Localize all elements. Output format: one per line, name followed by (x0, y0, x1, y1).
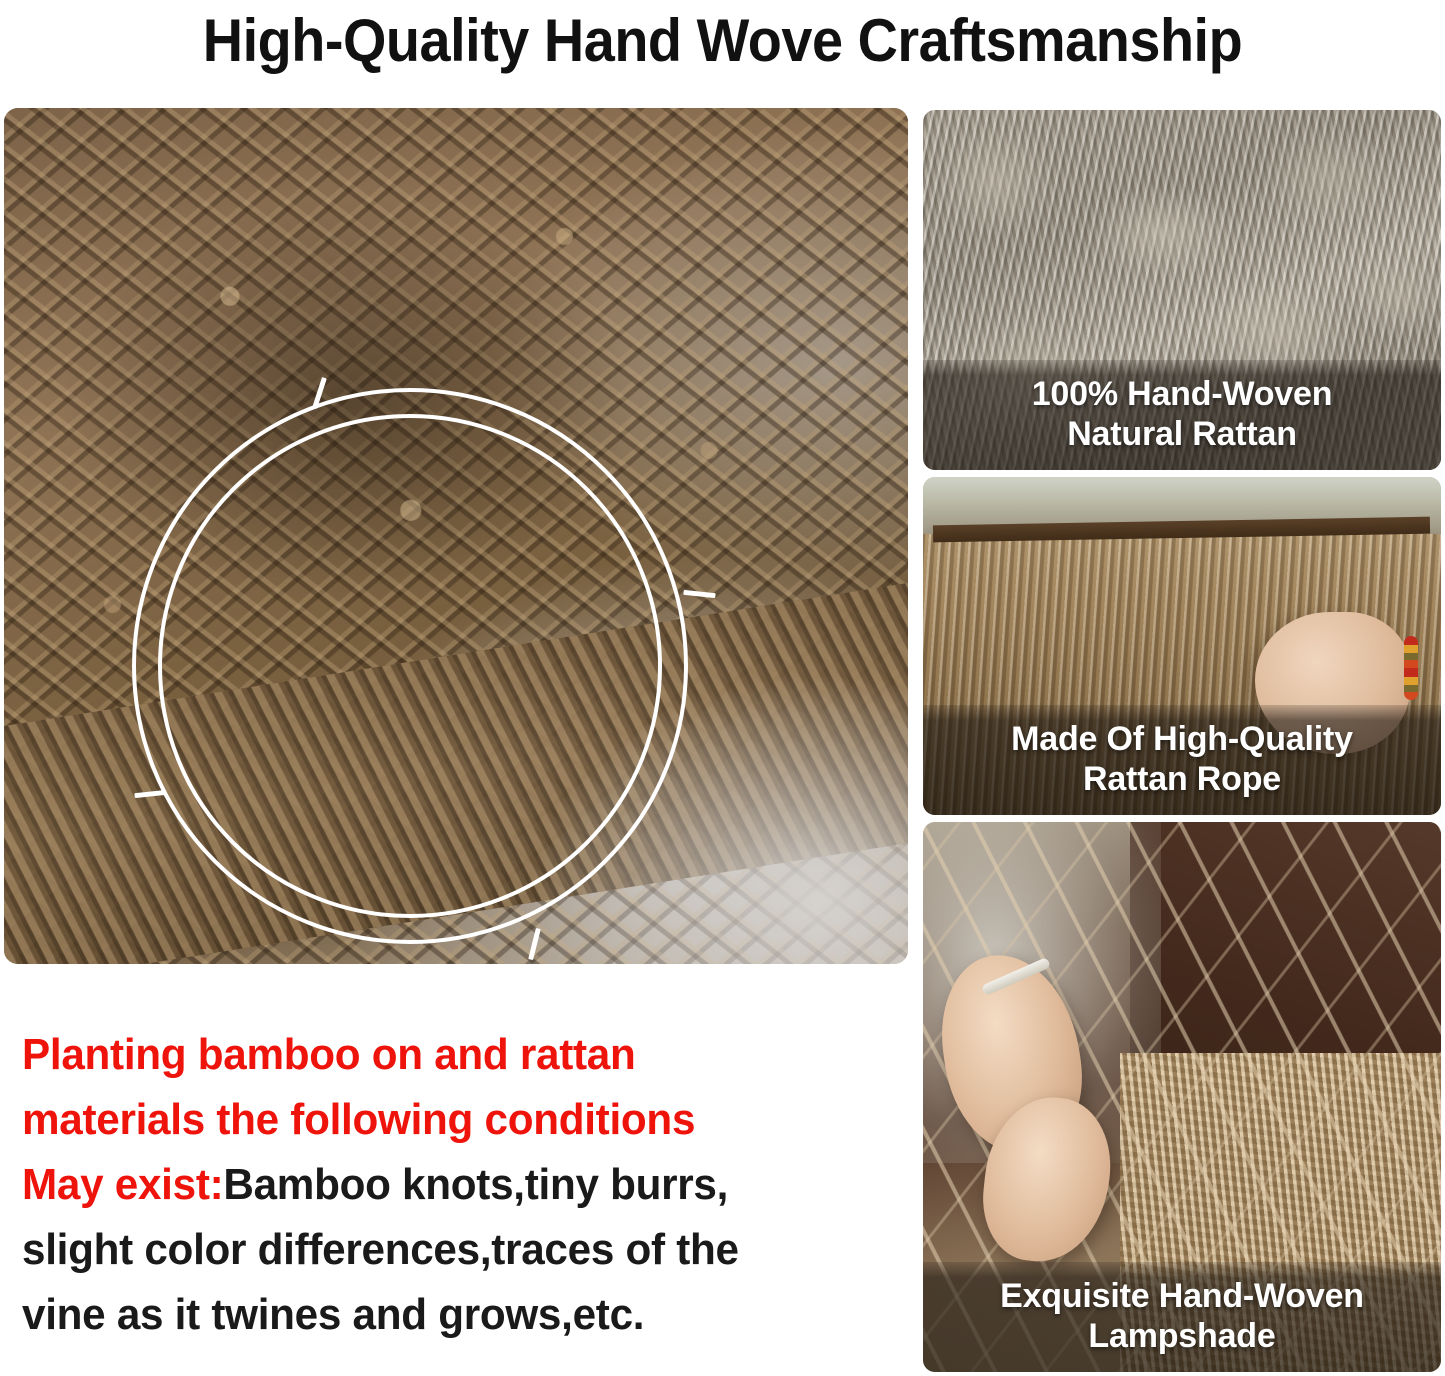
material-disclaimer: Planting bamboo on and rattan materials … (22, 1022, 900, 1347)
caption-line-1: 100% Hand-Woven (939, 374, 1425, 414)
infographic-page: High-Quality Hand Wove Craftsmanship 100… (0, 0, 1445, 1376)
caption-line-1: Made Of High-Quality (939, 719, 1425, 759)
hero-highlight (528, 673, 908, 964)
panel-caption: 100% Hand-Woven Natural Rattan (923, 360, 1441, 470)
feature-panel-natural-rattan: 100% Hand-Woven Natural Rattan (923, 110, 1441, 470)
page-title: High-Quality Hand Wove Craftsmanship (51, 0, 1395, 96)
panel-caption: Made Of High-Quality Rattan Rope (923, 705, 1441, 815)
caption-line-1: Exquisite Hand-Woven (939, 1276, 1425, 1316)
hero-product-image (4, 108, 908, 964)
disclaimer-line-5: vine as it twines and grows,etc. (22, 1282, 865, 1347)
disclaimer-line-3: May exist:Bamboo knots,tiny burrs, (22, 1152, 865, 1217)
disclaimer-line-2: materials the following conditions (22, 1087, 865, 1152)
disclaimer-line-3-body: Bamboo knots,tiny burrs, (223, 1160, 728, 1209)
panel-caption: Exquisite Hand-Woven Lampshade (923, 1262, 1441, 1372)
caption-line-2: Natural Rattan (939, 414, 1425, 454)
caption-line-2: Rattan Rope (939, 759, 1425, 799)
caption-line-2: Lampshade (939, 1316, 1425, 1356)
feature-panel-rattan-rope: Made Of High-Quality Rattan Rope (923, 477, 1441, 815)
beaded-bracelet (1404, 636, 1418, 700)
disclaimer-line-1: Planting bamboo on and rattan (22, 1022, 865, 1087)
disclaimer-label: May exist: (22, 1160, 223, 1209)
disclaimer-line-4: slight color differences,traces of the (22, 1217, 865, 1282)
feature-panel-lampshade: Exquisite Hand-Woven Lampshade (923, 822, 1441, 1372)
